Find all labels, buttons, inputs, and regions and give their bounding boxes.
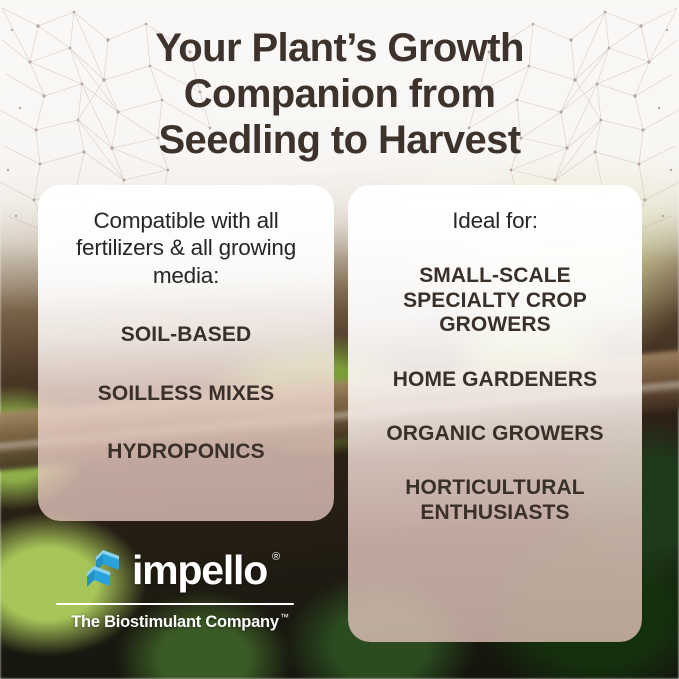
page-title: Your Plant’s Growth Companion from Seedl…	[0, 25, 679, 163]
audience-card: Ideal for: SMALL-SCALE SPECIALTY CROP GR…	[348, 185, 642, 642]
brand-tagline: The Biostimulant Company™	[71, 613, 279, 632]
brand-divider	[56, 603, 294, 605]
compatibility-item-hydroponics: HYDROPONICS	[54, 440, 318, 464]
brand-tagline-text: The Biostimulant Company	[71, 613, 279, 631]
audience-item-home-gardeners: HOME GARDENERS	[364, 368, 626, 392]
audience-item-specialty-crop-growers: SMALL-SCALE SPECIALTY CROP GROWERS	[364, 264, 626, 337]
compatibility-item-soil-based: SOIL-BASED	[54, 323, 318, 347]
impello-leaf-chevron-icon	[83, 548, 123, 592]
audience-card-heading: Ideal for:	[364, 207, 626, 234]
brand-lockup: impello® The Biostimulant Company™	[50, 544, 300, 632]
registered-trademark-icon: ®	[272, 552, 280, 563]
compatibility-card: Compatible with all fertilizers & all gr…	[38, 185, 334, 521]
brand-name-text: impello	[132, 547, 267, 593]
compatibility-item-soilless-mixes: SOILLESS MIXES	[54, 382, 318, 406]
brand-name-row: impello®	[50, 544, 300, 596]
trademark-icon: ™	[280, 612, 289, 622]
headline-line-1: Your Plant’s Growth	[155, 26, 524, 70]
brand-wordmark: impello®	[132, 550, 267, 591]
audience-item-organic-growers: ORGANIC GROWERS	[364, 422, 626, 446]
compatibility-card-heading: Compatible with all fertilizers & all gr…	[54, 207, 318, 289]
headline-line-3: Seedling to Harvest	[158, 118, 520, 162]
audience-item-horticultural-enthusiasts: HORTICULTURAL ENTHUSIASTS	[364, 476, 626, 525]
headline-line-2: Companion from	[184, 72, 496, 116]
infographic-canvas: Your Plant’s Growth Companion from Seedl…	[0, 0, 679, 679]
